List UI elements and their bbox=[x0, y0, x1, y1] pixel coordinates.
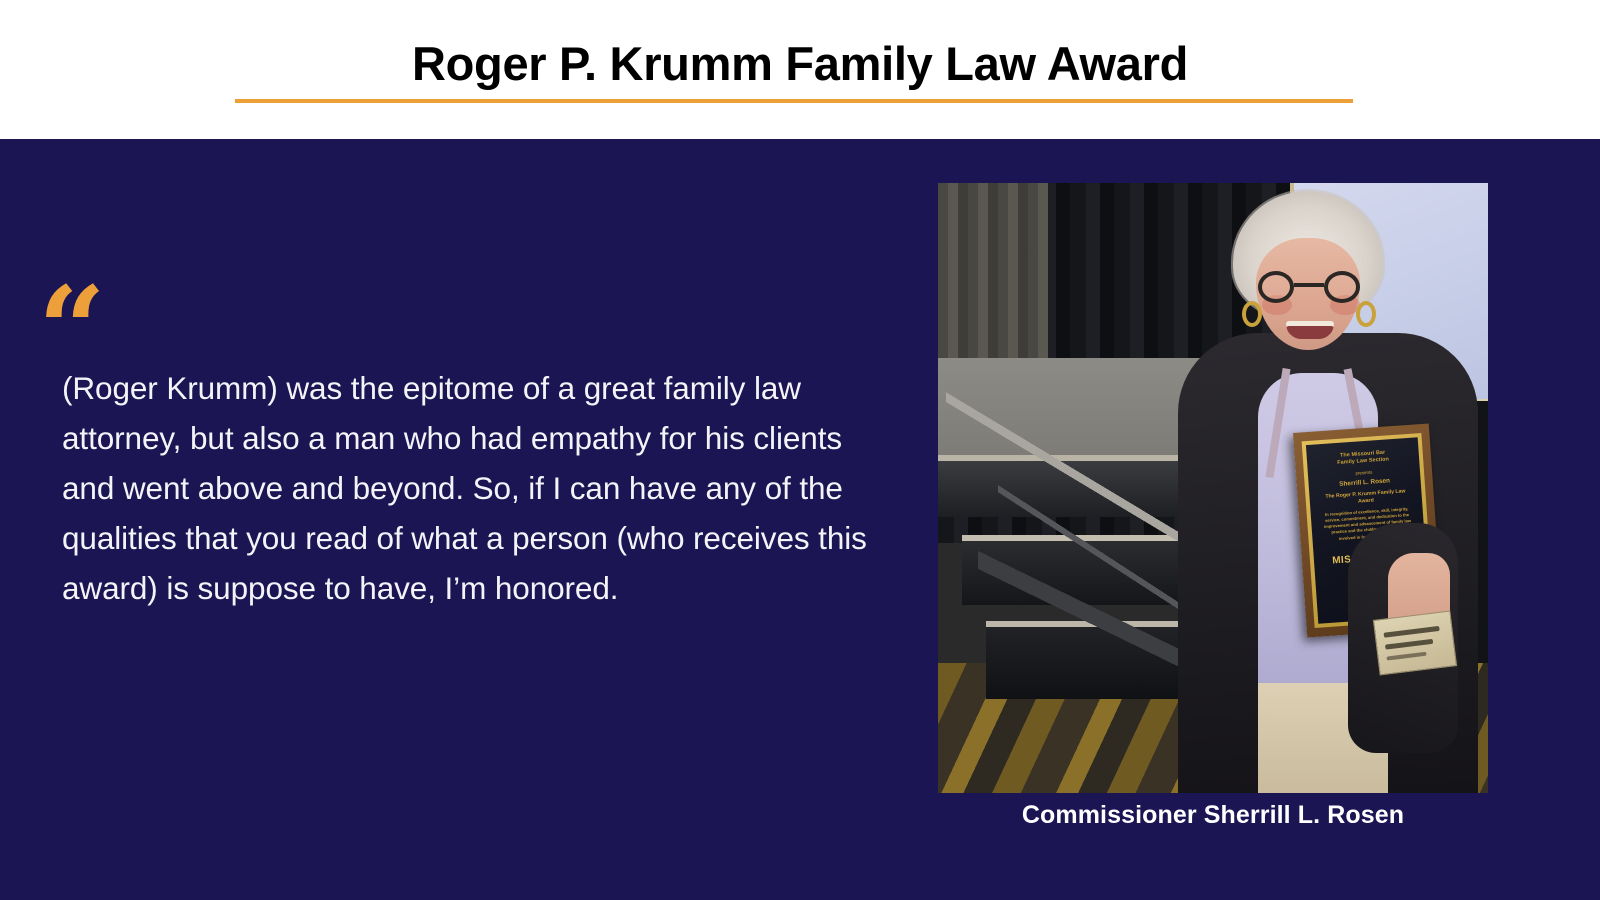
name-badge-line-3 bbox=[1386, 652, 1426, 661]
name-badge bbox=[1373, 610, 1457, 675]
plaque-award-name: The Roger P. Krumm Family Law Award bbox=[1317, 488, 1414, 508]
page-title: Roger P. Krumm Family Law Award bbox=[0, 36, 1600, 91]
slide-header: Roger P. Krumm Family Law Award bbox=[0, 0, 1600, 139]
photo-caption: Commissioner Sherrill L. Rosen bbox=[938, 801, 1488, 830]
name-badge-line-2 bbox=[1385, 639, 1433, 650]
slide-body: “ (Roger Krumm) was the epitome of a gre… bbox=[0, 139, 1600, 900]
hoop-earring-right bbox=[1356, 301, 1376, 327]
eyeglasses-bridge bbox=[1294, 283, 1324, 287]
title-underline-rule bbox=[235, 99, 1353, 103]
quote-block: “ (Roger Krumm) was the epitome of a gre… bbox=[0, 139, 900, 900]
quote-text: (Roger Krumm) was the epitome of a great… bbox=[62, 363, 874, 613]
smile bbox=[1286, 321, 1334, 339]
slide: Roger P. Krumm Family Law Award “ (Roger… bbox=[0, 0, 1600, 900]
eyeglasses-left-lens bbox=[1258, 271, 1294, 303]
name-badge-line-1 bbox=[1384, 626, 1440, 638]
photo-scene: The Missouri Bar Family Law Section pres… bbox=[938, 183, 1488, 793]
award-photo: The Missouri Bar Family Law Section pres… bbox=[938, 183, 1488, 793]
eyeglasses-right-lens bbox=[1324, 271, 1360, 303]
hoop-earring-left bbox=[1242, 301, 1262, 327]
award-recipient-figure: The Missouri Bar Family Law Section pres… bbox=[1058, 183, 1488, 793]
